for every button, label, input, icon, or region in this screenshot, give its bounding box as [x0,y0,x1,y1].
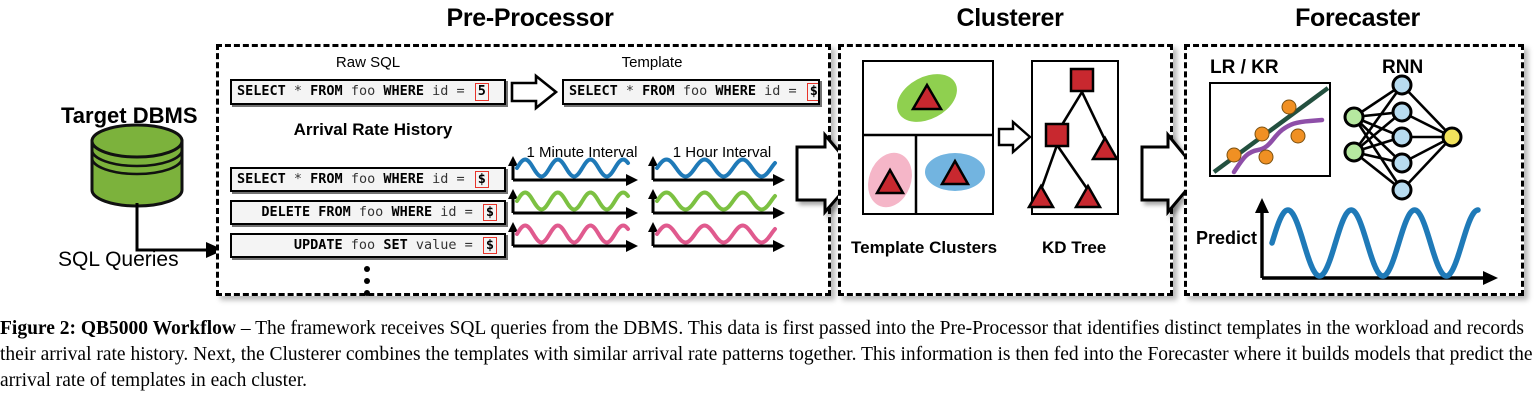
predict-y-axis-arrowhead [1255,198,1269,213]
predicted-arrival-rate-wave [1272,210,1478,276]
predict-x-axis-arrowhead [1483,271,1498,285]
qb5000-workflow-figure: Pre-Processor Clusterer Forecaster Targe… [0,0,1535,408]
caption-title: Figure 2: QB5000 Workflow [0,318,236,339]
figure-caption: Figure 2: QB5000 Workflow – The framewor… [0,316,1535,394]
